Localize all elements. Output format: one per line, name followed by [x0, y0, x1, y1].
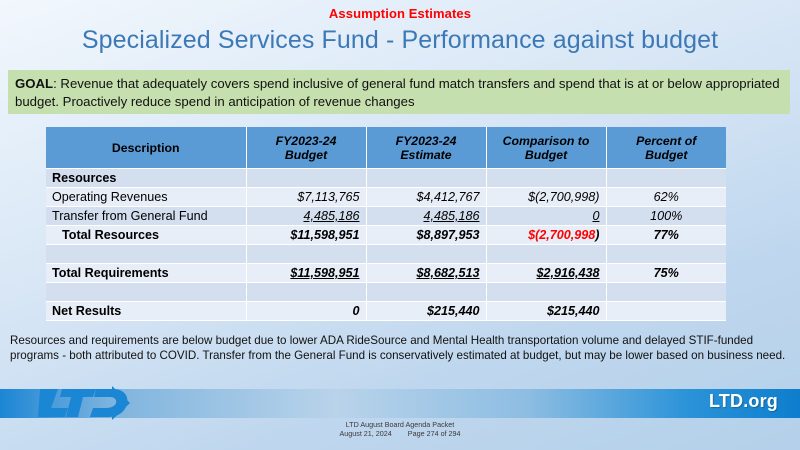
packet-title: LTD August Board Agenda Packet — [0, 420, 800, 429]
table-row: Total Resources $11,598,951 $8,897,953 $… — [46, 226, 726, 245]
row-comparison — [486, 169, 606, 188]
row-budget: 4,485,186 — [246, 207, 366, 226]
table-row: Total Requirements $11,598,951 $8,682,51… — [46, 264, 726, 283]
row-budget — [246, 169, 366, 188]
row-percent: 62% — [606, 188, 726, 207]
financial-table: Description FY2023-24 Budget FY2023-24 E… — [46, 127, 726, 321]
col-header-comparison-line2: Budget — [525, 148, 567, 162]
row-estimate: $4,412,767 — [366, 188, 486, 207]
table-row: Transfer from General Fund 4,485,186 4,4… — [46, 207, 726, 226]
packet-caption: LTD August Board Agenda Packet August 21… — [0, 420, 800, 439]
row-budget: $11,598,951 — [246, 264, 366, 283]
row-comparison — [486, 283, 606, 302]
col-header-budget-line1: FY2023-24 — [276, 134, 337, 148]
col-header-percent-line1: Percent of — [636, 134, 696, 148]
row-estimate: 4,485,186 — [366, 207, 486, 226]
row-label: Net Results — [46, 302, 246, 321]
row-comparison-red: $(2,700,998 — [528, 228, 595, 242]
goal-label: GOAL — [15, 76, 53, 91]
row-percent — [606, 302, 726, 321]
row-percent — [606, 169, 726, 188]
row-estimate: $215,440 — [366, 302, 486, 321]
col-header-comparison-line1: Comparison to — [503, 134, 590, 148]
table-spacer-row — [46, 245, 726, 264]
kicker-heading: Assumption Estimates — [0, 6, 800, 21]
col-header-description-label: Description — [112, 141, 180, 155]
table-spacer-row — [46, 283, 726, 302]
col-header-budget-line2: Budget — [285, 148, 327, 162]
ltd-org-label[interactable]: LTD.org — [709, 391, 778, 412]
row-percent: 75% — [606, 264, 726, 283]
row-label: Transfer from General Fund — [46, 207, 246, 226]
row-comparison: $215,440 — [486, 302, 606, 321]
table-row: Net Results 0 $215,440 $215,440 — [46, 302, 726, 321]
row-comparison — [486, 245, 606, 264]
col-header-estimate: FY2023-24 Estimate — [366, 127, 486, 169]
table-row: Operating Revenues $7,113,765 $4,412,767… — [46, 188, 726, 207]
row-estimate: $8,682,513 — [366, 264, 486, 283]
col-header-budget: FY2023-24 Budget — [246, 127, 366, 169]
packet-date: August 21, 2024 — [339, 429, 391, 438]
row-budget — [246, 283, 366, 302]
row-percent: 77% — [606, 226, 726, 245]
row-budget — [246, 245, 366, 264]
row-percent — [606, 283, 726, 302]
row-label: Total Resources — [46, 226, 246, 245]
row-label: Resources — [46, 169, 246, 188]
goal-callout: GOAL: Revenue that adequately covers spe… — [8, 70, 790, 114]
packet-gap — [392, 429, 408, 438]
row-estimate — [366, 245, 486, 264]
row-comparison: $(2,700,998) — [486, 188, 606, 207]
row-estimate — [366, 169, 486, 188]
row-comparison: 0 — [486, 207, 606, 226]
packet-meta: August 21, 2024 Page 274 of 294 — [0, 429, 800, 438]
col-header-estimate-line1: FY2023-24 — [396, 134, 457, 148]
page-title: Specialized Services Fund - Performance … — [0, 26, 800, 55]
packet-page: Page 274 of 294 — [408, 429, 461, 438]
row-percent: 100% — [606, 207, 726, 226]
col-header-description: Description — [46, 127, 246, 169]
row-budget: $7,113,765 — [246, 188, 366, 207]
row-budget: 0 — [246, 302, 366, 321]
footnote-text: Resources and requirements are below bud… — [10, 334, 792, 363]
row-label — [46, 283, 246, 302]
goal-body: : Revenue that adequately covers spend i… — [15, 76, 780, 109]
row-budget: $11,598,951 — [246, 226, 366, 245]
row-label — [46, 245, 246, 264]
row-percent — [606, 245, 726, 264]
row-label: Operating Revenues — [46, 188, 246, 207]
table-header-row: Description FY2023-24 Budget FY2023-24 E… — [46, 127, 726, 169]
col-header-estimate-line2: Estimate — [400, 148, 451, 162]
row-comparison: $(2,700,998) — [486, 226, 606, 245]
slide-canvas: Assumption Estimates Specialized Service… — [0, 0, 800, 450]
col-header-percent: Percent of Budget — [606, 127, 726, 169]
row-label: Total Requirements — [46, 264, 246, 283]
row-comparison: $2,916,438 — [486, 264, 606, 283]
goal-text: GOAL: Revenue that adequately covers spe… — [15, 75, 783, 111]
col-header-comparison: Comparison to Budget — [486, 127, 606, 169]
table-row: Resources — [46, 169, 726, 188]
row-estimate: $8,897,953 — [366, 226, 486, 245]
row-estimate — [366, 283, 486, 302]
col-header-percent-line2: Budget — [645, 148, 687, 162]
row-comparison-tail: ) — [595, 228, 599, 242]
ltd-logo-icon — [38, 386, 130, 420]
